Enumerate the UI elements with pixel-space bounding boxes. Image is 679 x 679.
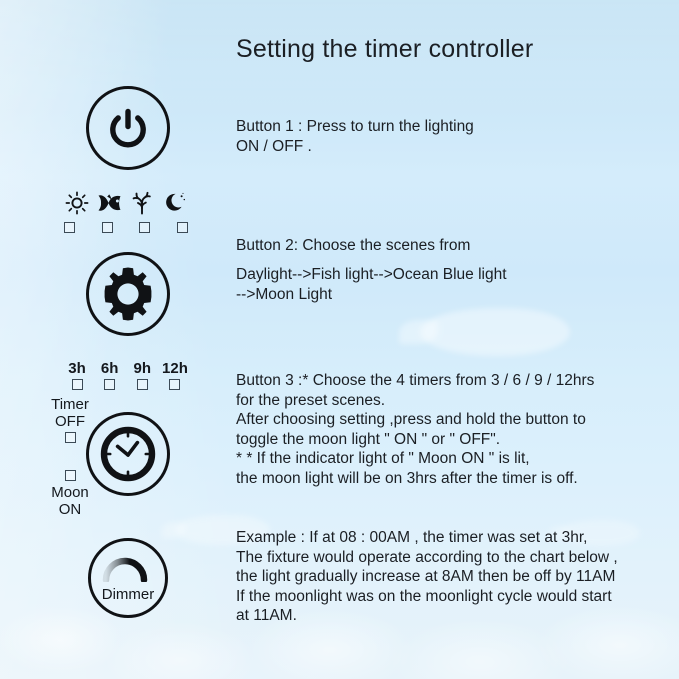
scene-indicator-fish[interactable] (102, 222, 113, 233)
gear-icon (99, 265, 157, 323)
button2-scene-sequence: Daylight-->Fish light-->Ocean Blue light… (236, 265, 507, 304)
timer-indicator-3h[interactable] (72, 379, 83, 390)
dimmer-button[interactable]: Dimmer (88, 538, 168, 618)
moon-icon (162, 190, 188, 216)
clock-icon (97, 423, 159, 485)
scene-indicator-daylight[interactable] (64, 222, 75, 233)
timer-off-indicator[interactable] (65, 432, 76, 443)
scene-indicator-ocean-blue[interactable] (139, 222, 150, 233)
scene-indicator-moon[interactable] (177, 222, 188, 233)
moon-on-label: Moon ON (38, 484, 102, 518)
timer-hour-indicator-row (62, 379, 190, 390)
example-instructions: Example : If at 08 : 00AM , the timer wa… (236, 528, 618, 626)
timer-button[interactable] (86, 412, 170, 496)
instruction-diagram: Setting the timer controller (0, 0, 679, 679)
timer-hour-label: 3h (62, 360, 92, 377)
moon-on-indicator[interactable] (65, 470, 76, 481)
scene-button[interactable] (86, 252, 170, 336)
timer-indicator-6h[interactable] (104, 379, 115, 390)
timer-indicator-12h[interactable] (169, 379, 180, 390)
scene-icon-row (64, 190, 188, 216)
sun-icon (64, 190, 90, 216)
timer-hour-label: 6h (95, 360, 125, 377)
timer-hour-label: 9h (127, 360, 157, 377)
timer-hour-label: 12h (160, 360, 190, 377)
power-icon (105, 105, 151, 151)
timer-hour-labels: 3h 6h 9h 12h (62, 360, 190, 377)
timer-indicator-9h[interactable] (137, 379, 148, 390)
power-button[interactable] (86, 86, 170, 170)
button1-instructions: Button 1 : Press to turn the lighting ON… (236, 117, 474, 156)
fish-icon (97, 190, 123, 216)
dimmer-label: Dimmer (102, 586, 155, 603)
button3-instructions: Button 3 :* Choose the 4 timers from 3 /… (236, 371, 594, 488)
scene-indicator-row (64, 222, 188, 233)
dimmer-arc-icon (101, 556, 155, 582)
page-title: Setting the timer controller (236, 35, 533, 64)
button2-heading: Button 2: Choose the scenes from (236, 236, 470, 256)
timer-off-label: Timer OFF (38, 396, 102, 430)
coral-icon (129, 190, 155, 216)
